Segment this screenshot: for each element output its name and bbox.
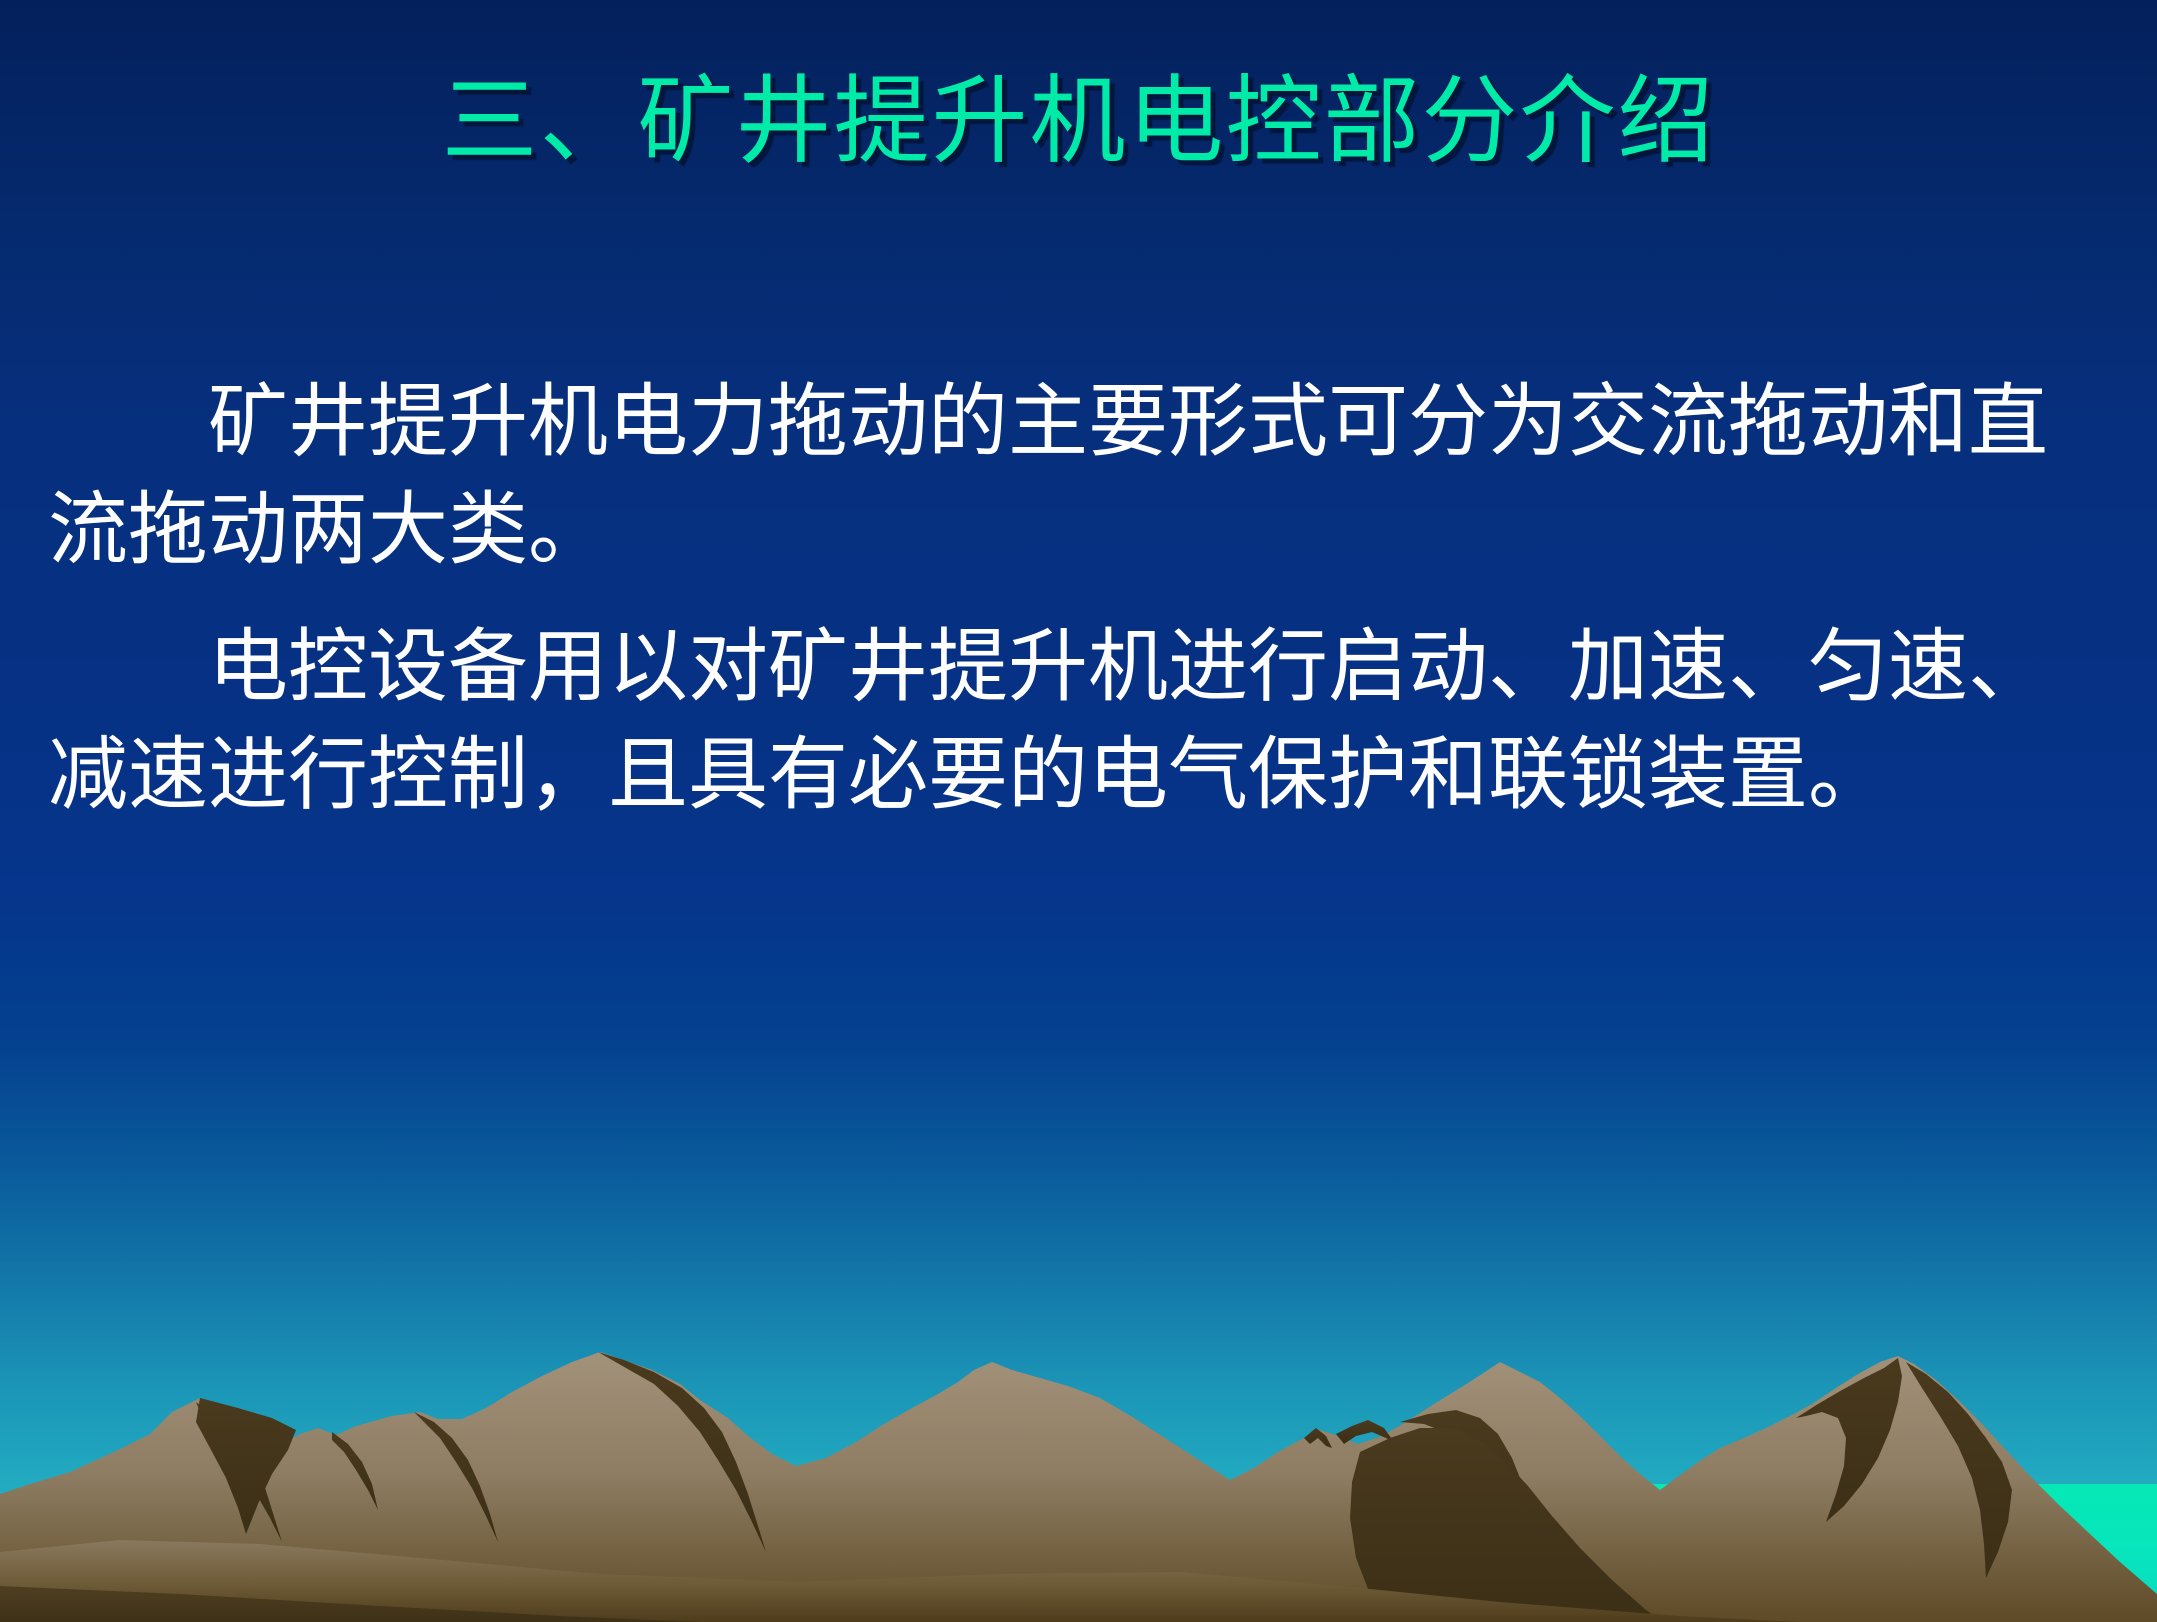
mountain-range-graphic — [0, 1222, 2157, 1622]
body-paragraph-1: 矿井提升机电力拖动的主要形式可分为交流拖动和直流拖动两大类。 — [48, 368, 2068, 585]
presentation-slide: 三、矿井提升机电控部分介绍 矿井提升机电力拖动的主要形式可分为交流拖动和直流拖动… — [0, 0, 2157, 1622]
page-title: 三、矿井提升机电控部分介绍 — [0, 63, 2157, 180]
slide-body: 矿井提升机电力拖动的主要形式可分为交流拖动和直流拖动两大类。 电控设备用以对矿井… — [48, 368, 2068, 830]
body-paragraph-2: 电控设备用以对矿井提升机进行启动、加速、匀速、减速进行控制，且具有必要的电气保护… — [48, 613, 2068, 830]
